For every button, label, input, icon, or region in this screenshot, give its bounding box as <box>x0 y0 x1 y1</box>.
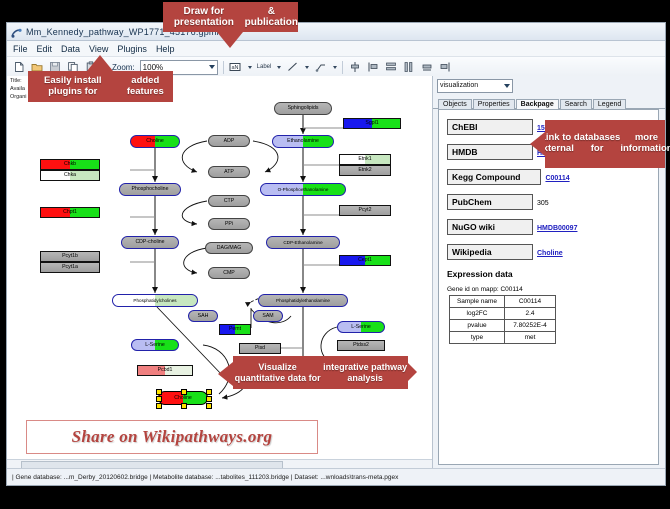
selection-handle[interactable] <box>181 403 187 409</box>
node-label: Chkb <box>64 161 76 167</box>
expression-data-heading: Expression data <box>447 269 658 279</box>
node-label: DAG/MAG <box>217 245 242 251</box>
stack-icon[interactable] <box>420 61 433 74</box>
visualization-row: visualization <box>433 76 665 93</box>
expression-key: Sample name <box>450 296 505 308</box>
new-file-icon[interactable] <box>12 61 25 74</box>
node-label: L-Serine <box>145 342 165 348</box>
expression-row: log2FC2.4 <box>450 308 556 320</box>
tab-search[interactable]: Search <box>560 99 592 109</box>
database-value: 305 <box>537 200 549 207</box>
expression-row: typemet <box>450 332 556 344</box>
node-label: Chpt1 <box>63 209 77 215</box>
status-bar: | Gene database: ...m_Derby_20120602.bri… <box>7 468 665 485</box>
database-link[interactable]: HMDB00097 <box>537 225 577 232</box>
node-label: ATP <box>224 169 234 175</box>
align-columns-icon[interactable] <box>402 61 415 74</box>
node-label: SAM <box>262 313 273 319</box>
gene-node[interactable]: Cept1 <box>339 255 391 266</box>
visualization-select[interactable]: visualization <box>437 79 513 93</box>
node-label: L-Serine <box>351 324 371 330</box>
app-icon <box>11 26 22 37</box>
node-label: ADP <box>224 138 235 144</box>
node-label: CMP <box>223 270 235 276</box>
node-label: Choline <box>174 395 192 401</box>
line-icon[interactable] <box>286 61 299 74</box>
expression-key: log2FC <box>450 308 505 320</box>
expression-value: C00114 <box>505 296 556 308</box>
database-name: Kegg Compound <box>447 169 541 185</box>
node-label: Pcyt1a <box>62 264 78 270</box>
visualization-value: visualization <box>440 82 478 89</box>
database-link[interactable]: C00114 <box>545 175 569 182</box>
metabolite-node[interactable]: CTP <box>208 195 250 207</box>
database-name: HMDB <box>447 144 533 160</box>
gene-node[interactable]: Pcbd1 <box>137 365 193 376</box>
gene-node[interactable]: Pcyt2 <box>339 205 391 216</box>
metabolite-node[interactable]: PPi <box>208 218 250 230</box>
expression-key: pvalue <box>450 320 505 332</box>
expression-row: pvalue7.80252E-4 <box>450 320 556 332</box>
chevron-down-icon[interactable] <box>333 66 337 69</box>
metabolite-node[interactable]: Phosphatidylcholines <box>112 294 198 307</box>
gene-id-line: Gene id on mapp: C00114 <box>447 286 658 293</box>
selection-handle[interactable] <box>156 403 162 409</box>
metabolite-node[interactable]: CDP-choline <box>121 236 179 249</box>
node-label: Choline <box>146 138 164 144</box>
metabolite-node[interactable]: L-Serine <box>131 339 179 351</box>
metabolite-node[interactable]: SAM <box>253 310 283 322</box>
node-label: Pemt <box>229 326 241 332</box>
metabolite-node[interactable]: DAG/MAG <box>205 242 253 254</box>
gene-node[interactable]: Pcyt1a <box>40 262 100 273</box>
node-label: Chka <box>64 172 76 178</box>
callout-plugins: Easily install plugins foradded features <box>28 71 173 102</box>
gene-node[interactable]: Sgpl1 <box>343 118 401 129</box>
node-label: O-Phosphoethanolamine <box>278 187 329 192</box>
callout-visualize: Visualize quantitative data forintegrati… <box>233 356 408 389</box>
metabolite-node[interactable]: Sphingolipids <box>274 102 332 115</box>
toolbar-separator <box>223 61 224 74</box>
selection-handle[interactable] <box>206 403 212 409</box>
status-text: | Gene database: ...m_Derby_20120602.bri… <box>12 474 398 481</box>
chevron-down-icon[interactable] <box>277 66 281 69</box>
menu-item-edit[interactable]: Edit <box>37 44 53 54</box>
expression-key: type <box>450 332 505 344</box>
gene-node[interactable]: Pemt <box>219 324 251 335</box>
metabolite-node[interactable]: CMP <box>208 267 250 279</box>
gene-node[interactable]: Etnk2 <box>339 165 391 176</box>
metabolite-node[interactable]: ADP <box>208 135 250 147</box>
callout-links-arrow <box>530 132 545 156</box>
pathway-canvas[interactable]: Title: Availa Organi <box>7 76 433 469</box>
tab-properties[interactable]: Properties <box>473 99 515 109</box>
node-label: Ethanolamine <box>287 138 319 144</box>
menu-item-file[interactable]: File <box>13 44 28 54</box>
node-label: Cept1 <box>358 257 372 263</box>
node-label: PPi <box>225 221 233 227</box>
metabolite-node[interactable]: Choline <box>130 135 180 148</box>
node-label: Phosphocholine <box>132 186 169 192</box>
database-section: WikipediaCholine <box>447 242 658 260</box>
callout-draw: Draw for presentation& publication <box>163 2 298 32</box>
node-label: Phosphatidylcholines <box>133 298 176 303</box>
side-pane-tabs: Objects Properties Backpage Search Legen… <box>433 95 665 109</box>
gene-node[interactable]: Chpt1 <box>40 207 100 218</box>
callout-plugins-arrow <box>87 55 113 71</box>
align-rows-icon[interactable] <box>384 61 397 74</box>
callout-draw-arrow <box>217 32 243 48</box>
tab-legend[interactable]: Legend <box>593 99 626 109</box>
node-label: Pcbd1 <box>158 367 173 373</box>
database-name: PubChem <box>447 194 533 210</box>
menu-item-data[interactable]: Data <box>61 44 80 54</box>
toolbar-separator <box>342 61 343 74</box>
chevron-down-icon <box>209 65 215 69</box>
menu-item-view[interactable]: View <box>89 44 108 54</box>
expression-row: Sample nameC00114 <box>450 296 556 308</box>
node-label: Ptdss2 <box>353 342 369 348</box>
node-label: SAH <box>198 313 209 319</box>
callout-share: Share on Wikipathways.org <box>26 420 318 454</box>
node-label: CDP-choline <box>135 239 164 245</box>
callout-visualize-arrow <box>218 362 233 386</box>
database-section: Kegg CompoundC00114 <box>447 167 658 185</box>
selection-handle[interactable] <box>206 396 212 402</box>
metabolite-node[interactable]: Phosphatidylethanolamine <box>258 294 348 307</box>
gene-node[interactable]: Etnk1 <box>339 154 391 165</box>
gene-node[interactable]: Pcyt1b <box>40 251 100 262</box>
node-label: Sphingolipids <box>288 105 319 111</box>
metabolite-node[interactable]: O-Phosphoethanolamine <box>260 183 346 196</box>
gene-node[interactable]: Chka <box>40 170 100 181</box>
metabolite-node[interactable]: L-Serine <box>337 321 385 333</box>
gene-node[interactable]: Pisd <box>239 343 281 354</box>
expression-value: 7.80252E-4 <box>505 320 556 332</box>
node-label: CDP-Ethanolamine <box>283 240 322 245</box>
menu-item-plugins[interactable]: Plugins <box>117 44 147 54</box>
datanode-icon[interactable]: aN <box>229 61 242 74</box>
expression-value: 2.4 <box>505 308 556 320</box>
database-section: PubChem305 <box>447 192 658 210</box>
selection-handle[interactable] <box>156 396 162 402</box>
chevron-down-icon[interactable] <box>305 66 309 69</box>
align-left-icon[interactable] <box>366 61 379 74</box>
interaction-icon[interactable] <box>314 61 327 74</box>
chevron-down-icon[interactable] <box>248 66 252 69</box>
node-label: Etnk1 <box>358 156 371 162</box>
node-label: Etnk2 <box>358 167 371 173</box>
svg-text:aN: aN <box>232 65 239 71</box>
share-text: Share on Wikipathways.org <box>72 427 273 447</box>
selection-handle[interactable] <box>181 389 187 395</box>
metabolite-node[interactable]: Phosphocholine <box>119 183 181 196</box>
gene-node[interactable]: Chkb <box>40 159 100 170</box>
database-name: NuGO wiki <box>447 219 533 235</box>
database-link[interactable]: Choline <box>537 250 563 257</box>
gene-node[interactable]: Ptdss2 <box>337 340 385 351</box>
node-label: Pcyt2 <box>359 207 372 213</box>
node-label: Phosphatidylethanolamine <box>276 298 330 303</box>
metabolite-node[interactable]: Ethanolamine <box>272 135 334 148</box>
align-center-icon[interactable] <box>348 61 361 74</box>
node-label: Pcyt1b <box>62 253 78 259</box>
expression-table: Sample nameC00114log2FC2.4pvalue7.80252E… <box>449 295 556 344</box>
tab-objects[interactable]: Objects <box>438 99 472 109</box>
chevron-down-icon <box>504 84 510 88</box>
callout-links: Link to externaldatabases formore inform… <box>545 120 665 168</box>
metabolite-node[interactable]: CDP-Ethanolamine <box>266 236 340 249</box>
database-name: Wikipedia <box>447 244 533 260</box>
title-bar: Mm_Kennedy_pathway_WP1771_45176.gpml <box>7 23 665 41</box>
selection-handle[interactable] <box>156 389 162 395</box>
screenshot-root: Mm_Kennedy_pathway_WP1771_45176.gpml Fil… <box>0 0 670 509</box>
expression-value: met <box>505 332 556 344</box>
database-name: ChEBI <box>447 119 533 135</box>
metabolite-node[interactable]: SAH <box>188 310 218 322</box>
node-label: Pisd <box>255 345 265 351</box>
menu-item-help[interactable]: Help <box>156 44 175 54</box>
callout-visualize-notch <box>408 363 417 381</box>
node-label: Sgpl1 <box>365 120 378 126</box>
align-right-icon[interactable] <box>438 61 451 74</box>
database-section: NuGO wikiHMDB00097 <box>447 217 658 235</box>
node-label: CTP <box>224 198 234 204</box>
label-tool-label[interactable]: Label <box>257 64 272 70</box>
metabolite-node[interactable]: ATP <box>208 166 250 178</box>
selection-handle[interactable] <box>206 389 212 395</box>
